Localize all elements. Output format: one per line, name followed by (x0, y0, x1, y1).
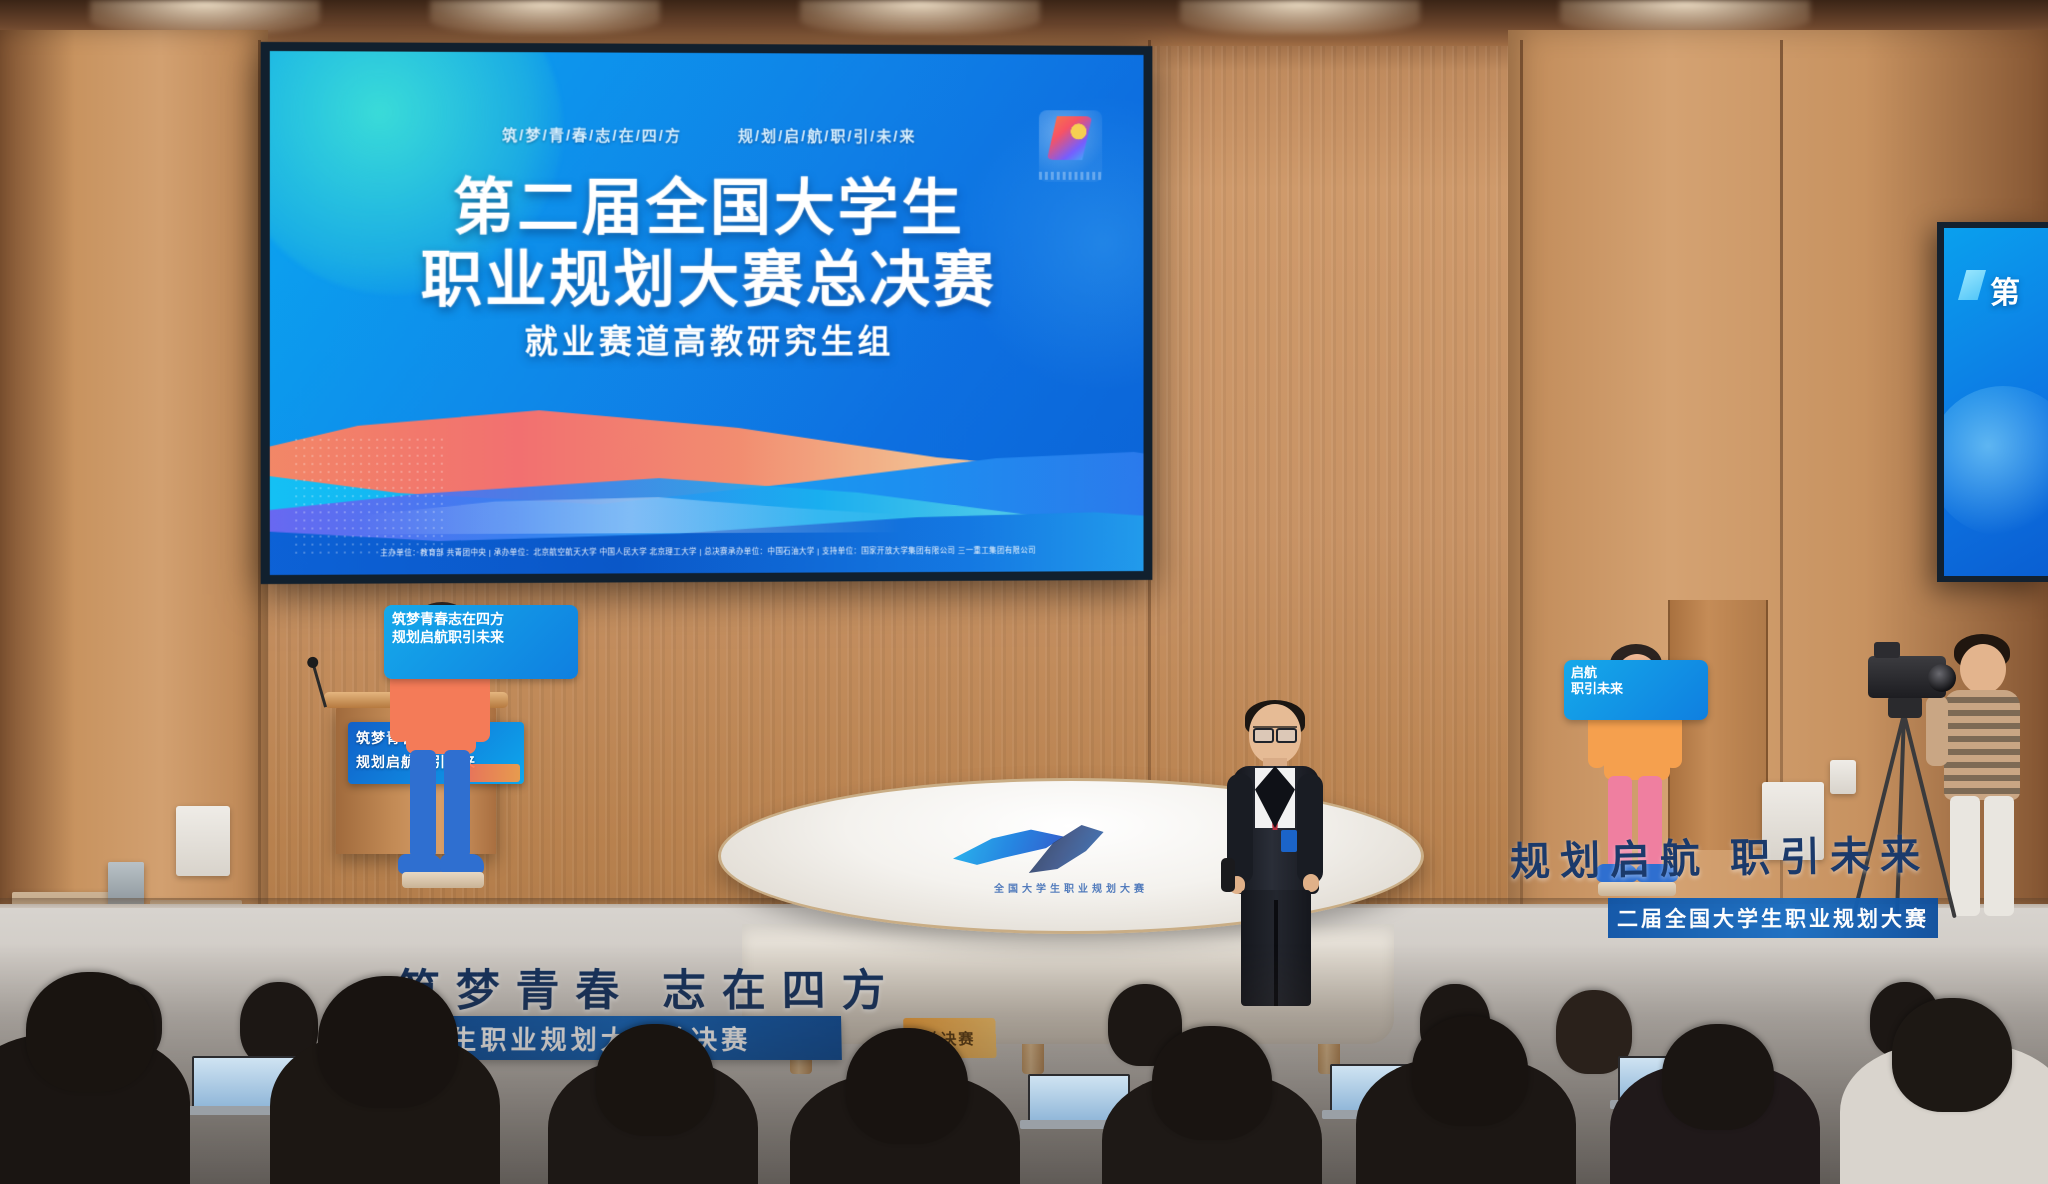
audience-head-front (1412, 1016, 1528, 1126)
cutout-shoe-right (440, 854, 484, 874)
wall-speaker-left (176, 806, 230, 876)
audience-head-front (1892, 998, 2012, 1112)
side-led-screen: 第 (1937, 222, 2048, 582)
camera-tripod-right (1840, 634, 1970, 934)
wall-banner-strip: 二届全国大学生职业规划大赛 (1608, 898, 1938, 938)
audience-head-front (318, 976, 458, 1108)
kicker-right-text: 规/划/启/航/职/引/未/来 (738, 125, 916, 147)
kicker-left-text: 筑/梦/青/春/志/在/四/方 (502, 124, 682, 146)
wall-banner-calligraphy: 规划启航 职引未来 (1510, 822, 1931, 887)
side-screen-emblem-icon (1958, 270, 1986, 300)
ceiling-light-1 (90, 0, 320, 34)
camera-lens-icon (1928, 664, 1956, 692)
cutout-leg-left (410, 750, 436, 858)
audience-head-front (596, 1024, 714, 1136)
presenter-arm-right (1297, 774, 1323, 884)
tripod-leg-2 (1902, 714, 1957, 919)
side-screen-title: 第 (1990, 268, 2020, 312)
ceiling-light-3 (800, 0, 1040, 34)
led-dot-pattern (292, 436, 444, 557)
screenshot-root: 筑/梦/青/春/志/在/四/方 规/划/启/航/职/引/未/来 第二届全国大学生… (0, 0, 2048, 1184)
cutout-base (402, 872, 484, 888)
table-logo: 全国大学生职业规划大赛 (931, 823, 1211, 895)
cutout-shoe-left (398, 854, 442, 874)
cutout-left-speech-line-2: 规划启航职引未来 (392, 629, 570, 647)
cutout-left-speech-bubble: 筑梦青春志在四方 规划启航职引未来 (384, 605, 578, 679)
handheld-microphone-icon (1221, 858, 1235, 892)
audience-head-front (846, 1028, 968, 1144)
table-logo-caption: 全国大学生职业规划大赛 (931, 880, 1211, 895)
main-led-screen: 筑/梦/青/春/志/在/四/方 规/划/启/航/职/引/未/来 第二届全国大学生… (261, 42, 1153, 584)
led-wave-graphic: 主办单位：教育部 共青团中央 | 承办单位：北京航空航天大学 中国人民大学 北京… (270, 363, 1144, 575)
ceiling-light-5 (1560, 0, 1810, 34)
competition-emblem-icon (1039, 110, 1102, 182)
tripod-head (1888, 696, 1922, 718)
led-subtitle: 就业赛道高教研究生组 (270, 315, 1144, 363)
led-content: 筑/梦/青/春/志/在/四/方 规/划/启/航/职/引/未/来 第二届全国大学生… (270, 51, 1144, 575)
glasses-icon (1253, 726, 1297, 739)
ceiling-light-4 (1180, 0, 1420, 34)
audience-foreground (0, 944, 2048, 1184)
cutout-right-speech-bubble: 启航 职引未来 (1564, 660, 1708, 720)
camera-viewfinder (1874, 642, 1900, 658)
cutout-left-speech-line-1: 筑梦青春志在四方 (392, 611, 570, 629)
cutout-right-speech-line-2: 职引未来 (1571, 681, 1701, 697)
led-kicker-row: 筑/梦/青/春/志/在/四/方 规/划/启/航/职/引/未/来 (270, 124, 1144, 148)
audience-head-front (1152, 1026, 1272, 1140)
led-title-line-2: 职业规划大赛总决赛 (270, 244, 1144, 317)
ceiling-light-2 (430, 0, 660, 34)
lanyard-badge (1281, 830, 1297, 852)
led-title-line-1: 第二届全国大学生 (453, 173, 965, 242)
audience-head-front (26, 972, 154, 1092)
audience-head-front (1662, 1024, 1774, 1130)
led-title: 第二届全国大学生 职业规划大赛总决赛 (270, 172, 1144, 317)
cutout-leg-right (444, 750, 470, 858)
cutout-right-speech-line-1: 启航 (1571, 665, 1701, 681)
operator-leg-right (1984, 796, 2014, 916)
